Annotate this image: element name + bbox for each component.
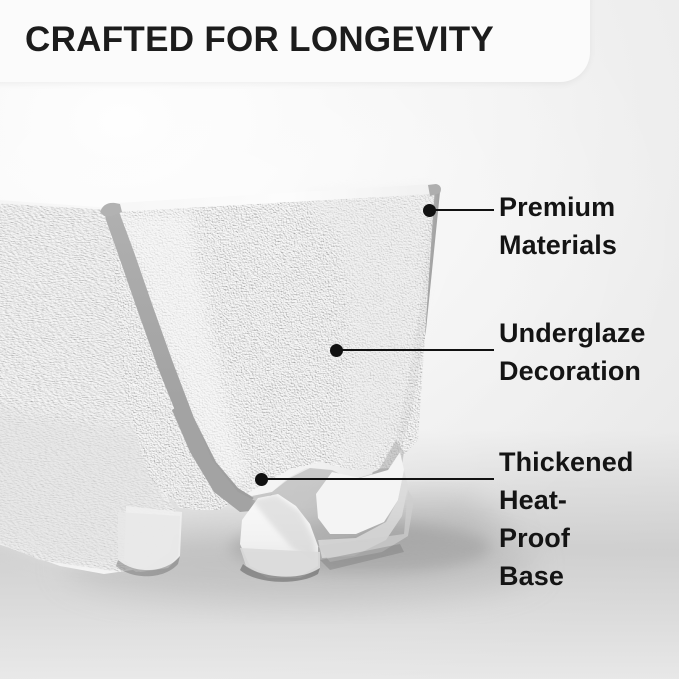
infographic-canvas: CRAFTED FOR LONGEVITY Premium Materials … xyxy=(0,0,679,679)
callout-leader-line xyxy=(432,209,494,211)
callout-label-underglaze-decoration: Underglaze Decoration xyxy=(499,314,646,390)
callout-leader-line xyxy=(264,478,494,480)
callout-label-premium-materials: Premium Materials xyxy=(499,188,617,264)
page-title: CRAFTED FOR LONGEVITY xyxy=(25,22,494,57)
callout-label-thickened-heat-proof-base: Thickened Heat-Proof Base xyxy=(499,443,633,595)
callout-leader-line xyxy=(339,349,494,351)
title-banner: CRAFTED FOR LONGEVITY xyxy=(0,0,590,82)
